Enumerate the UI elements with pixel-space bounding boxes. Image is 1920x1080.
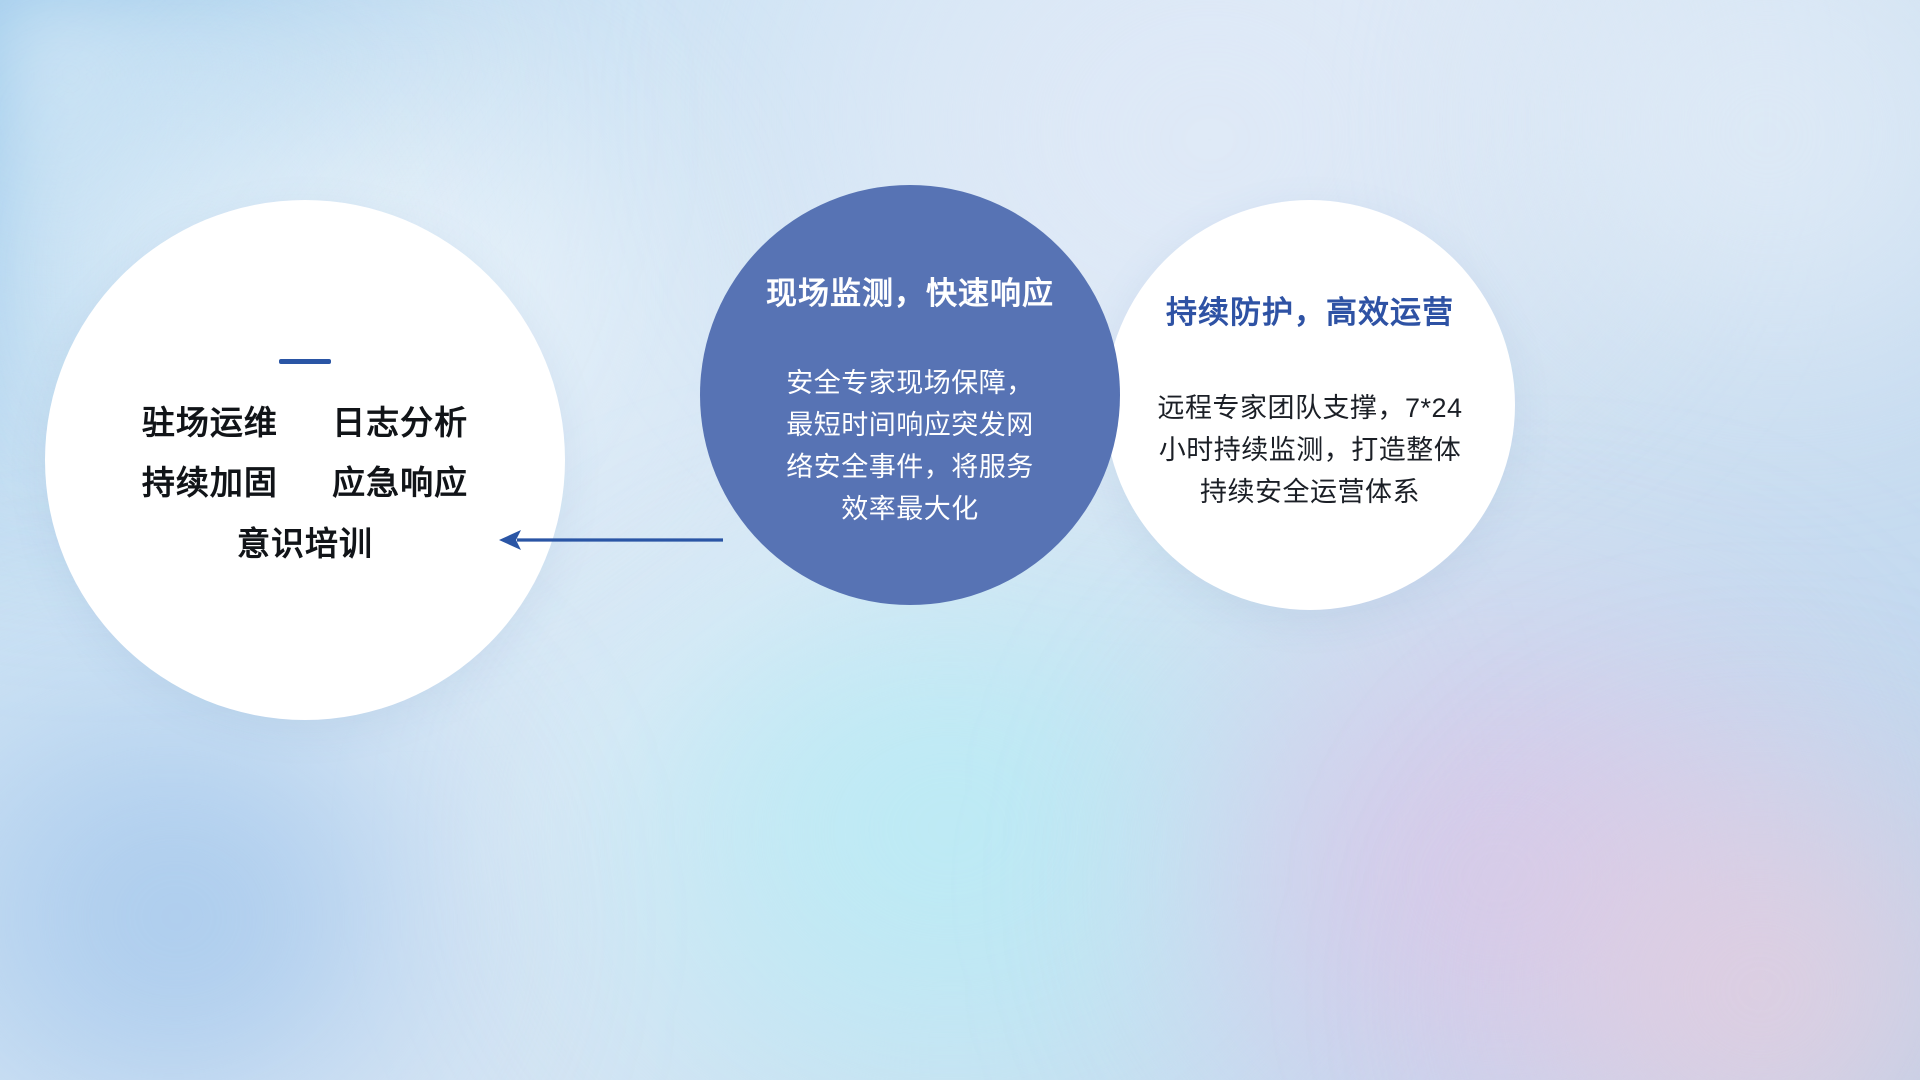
keyword-row: 持续加固 应急响应 <box>142 466 468 501</box>
middle-card-body: 安全专家现场保障， 最短时间响应突发网 络安全事件，将服务 效率最大化 <box>760 363 1060 530</box>
middle-card-title: 现场监测，快速响应 <box>766 277 1054 311</box>
right-card-body: 远程专家团队支撑，7*24 小时持续监测，打造整体 持续安全运营体系 <box>1140 388 1480 514</box>
keyword-label: 持续加固 <box>142 464 278 501</box>
right-body-line: 持续安全运营体系 <box>1140 472 1480 514</box>
left-service-circle[interactable]: 驻场运维 日志分析 持续加固 应急响应 意识培训 <box>45 200 565 720</box>
slide-canvas: 驻场运维 日志分析 持续加固 应急响应 意识培训 持续防护，高效运营 远程专家团… <box>0 0 1920 1080</box>
middle-body-line: 最短时间响应突发网 <box>760 405 1060 447</box>
middle-card-content: 现场监测，快速响应 安全专家现场保障， 最短时间响应突发网 络安全事件，将服务 … <box>700 185 1120 605</box>
keyword-row: 驻场运维 日志分析 <box>142 406 468 441</box>
middle-body-line: 络安全事件，将服务 <box>760 447 1060 489</box>
middle-body-line: 安全专家现场保障， <box>760 363 1060 405</box>
right-card-title: 持续防护，高效运营 <box>1166 296 1454 330</box>
keyword-row-last: 意识培训 <box>237 527 373 562</box>
connector-arrow-icon <box>495 525 725 555</box>
right-body-line: 远程专家团队支撑，7*24 <box>1140 388 1480 430</box>
keyword-label: 日志分析 <box>332 404 468 441</box>
keyword-label: 驻场运维 <box>142 404 278 441</box>
right-service-circle[interactable]: 持续防护，高效运营 远程专家团队支撑，7*24 小时持续监测，打造整体 持续安全… <box>1105 200 1515 610</box>
middle-body-line: 效率最大化 <box>760 489 1060 531</box>
divider-dash-icon <box>279 359 331 364</box>
keyword-label: 应急响应 <box>332 464 468 501</box>
right-body-line: 小时持续监测，打造整体 <box>1140 430 1480 472</box>
middle-service-circle[interactable]: 现场监测，快速响应 安全专家现场保障， 最短时间响应突发网 络安全事件，将服务 … <box>700 185 1120 605</box>
right-card-content: 持续防护，高效运营 远程专家团队支撑，7*24 小时持续监测，打造整体 持续安全… <box>1105 200 1515 610</box>
